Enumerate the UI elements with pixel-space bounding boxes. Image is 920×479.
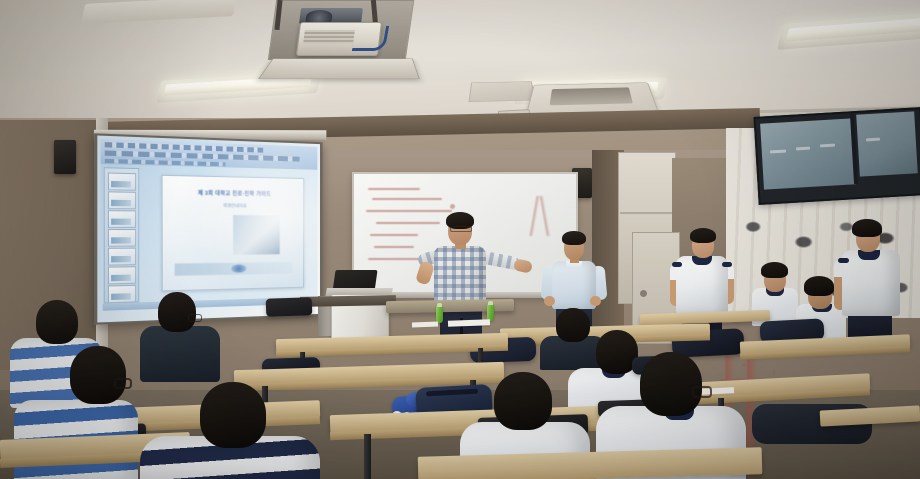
whiteboard-ink-stroke [366,210,452,212]
presenter-second-hair [562,231,586,245]
presenter-main-torso [434,246,486,306]
wall-panel-seam [620,212,672,214]
desk-leg [364,434,371,479]
water-bottle-cap [488,301,493,305]
interior-window-glass-right [856,111,918,176]
chair [266,297,313,317]
whiteboard-ink-stroke [372,198,442,200]
ceiling-panel [468,81,536,102]
projector-mount-tray [258,58,420,79]
uniform-sleeve-trim [722,262,732,267]
student-uniform-back-b-hair [804,276,834,296]
student-striped-navy-head [200,382,266,448]
uniform-sleeve-trim [838,258,849,263]
glasses-icon [188,314,202,322]
water-bottle [436,306,443,323]
student-standing-left-hair [690,228,716,243]
whiteboard-ink-stroke [374,246,414,248]
classroom-photo: 제 3회 대학교 진로·진학 가이드 학과안내자료 [0,0,920,479]
whiteboard-ink-stroke [370,234,418,236]
screen-glare [97,136,320,323]
student-dark-shirt-head [556,308,590,342]
water-bottle-cap [437,303,442,307]
air-conditioner-vent [550,87,633,105]
whiteboard-ink-stroke [368,258,424,260]
door-knob-icon[interactable] [640,290,647,297]
projector-vent-grille [303,30,355,44]
student-white-shirt-front-head [494,372,552,430]
uniform-sleeve-trim [672,262,682,267]
front-teacher-table [386,299,514,313]
student-white-polo-right-head [640,352,702,416]
student-dark-shirt-front-body [140,326,220,382]
whiteboard-ink-dot [450,204,455,209]
glasses-icon [692,386,712,398]
glasses-icon [450,226,472,232]
front-table-shadow [300,295,396,307]
presenter-second-hand-left [544,296,555,306]
whiteboard-ink-stroke [368,188,420,190]
wall-speaker-icon-left [54,140,76,174]
student-striped-blue-2-head [70,346,126,404]
whiteboard-writing-right [528,196,562,236]
student-striped-blue-1-head [36,300,78,344]
student-standing-right-hair [852,219,882,237]
glasses-icon [114,378,132,389]
papers [412,322,438,328]
presenter-second-hand-right [590,296,601,306]
interior-window-glass-left [760,118,856,189]
whiteboard-ink-stroke [376,222,440,224]
student-dark-shirt-front-head [158,292,196,332]
student-uniform-back-a-hair [761,262,788,278]
